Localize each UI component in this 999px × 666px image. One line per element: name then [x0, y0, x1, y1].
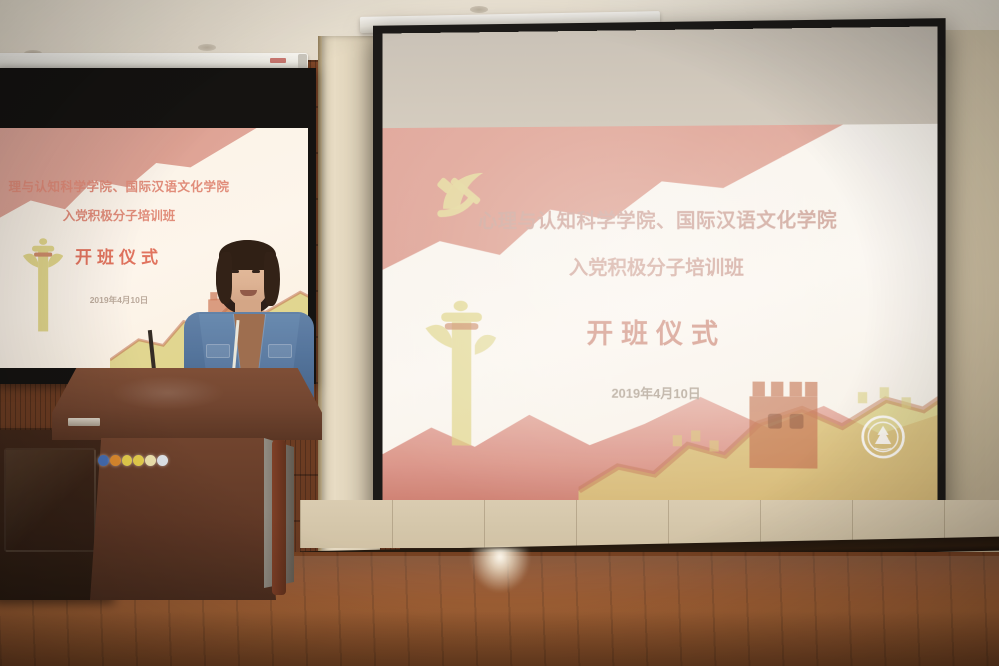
eye-left — [231, 270, 239, 273]
podium-badge-3 — [122, 455, 133, 466]
podium-badge-2 — [110, 455, 121, 466]
side-slide-title: 理与认知科学学院、国际汉语文化学院 — [0, 176, 274, 195]
podium-badge-1 — [98, 455, 109, 466]
side-slide-subtitle: 入党积极分子培训班 — [0, 205, 274, 224]
floor-light-reflection — [470, 548, 530, 592]
presentation-hall-photo: 理与认知科学学院、国际汉语文化学院 入党积极分子培训班 开班仪式 2019年4月… — [0, 0, 999, 666]
screen-blank-area — [383, 26, 938, 128]
podium-badge-5 — [145, 455, 156, 466]
ceiling-light-icon — [470, 6, 488, 13]
podium-sheen — [111, 376, 224, 410]
eye-right — [252, 270, 260, 273]
podium-nameplate — [68, 418, 100, 426]
roller-endcap — [298, 54, 307, 69]
podium-badge-4 — [133, 455, 144, 466]
jacket-pocket-left — [206, 344, 230, 358]
podium-top — [52, 368, 322, 440]
ceiling-light-icon — [198, 44, 216, 51]
jacket-pocket-right — [268, 344, 292, 358]
chair-leg — [272, 440, 286, 595]
hair-right — [264, 252, 280, 306]
main-slide: 心理与认知科学学院、国际汉语文化学院 入党积极分子培训班 开班仪式 2019年4… — [383, 124, 938, 510]
podium-badge-6 — [157, 455, 168, 466]
main-projection-screen: 心理与认知科学学院、国际汉语文化学院 入党积极分子培训班 开班仪式 2019年4… — [383, 26, 938, 521]
main-slide-date: 2019年4月10日 — [383, 381, 938, 403]
podium-badge-row — [98, 452, 168, 468]
hair-left — [216, 252, 232, 304]
main-slide-heading: 开班仪式 — [383, 312, 938, 353]
main-slide-title: 心理与认知科学学院、国际汉语文化学院 — [383, 203, 938, 234]
brand-mark-icon — [270, 58, 286, 63]
main-slide-subtitle: 入党积极分子培训班 — [383, 251, 938, 280]
